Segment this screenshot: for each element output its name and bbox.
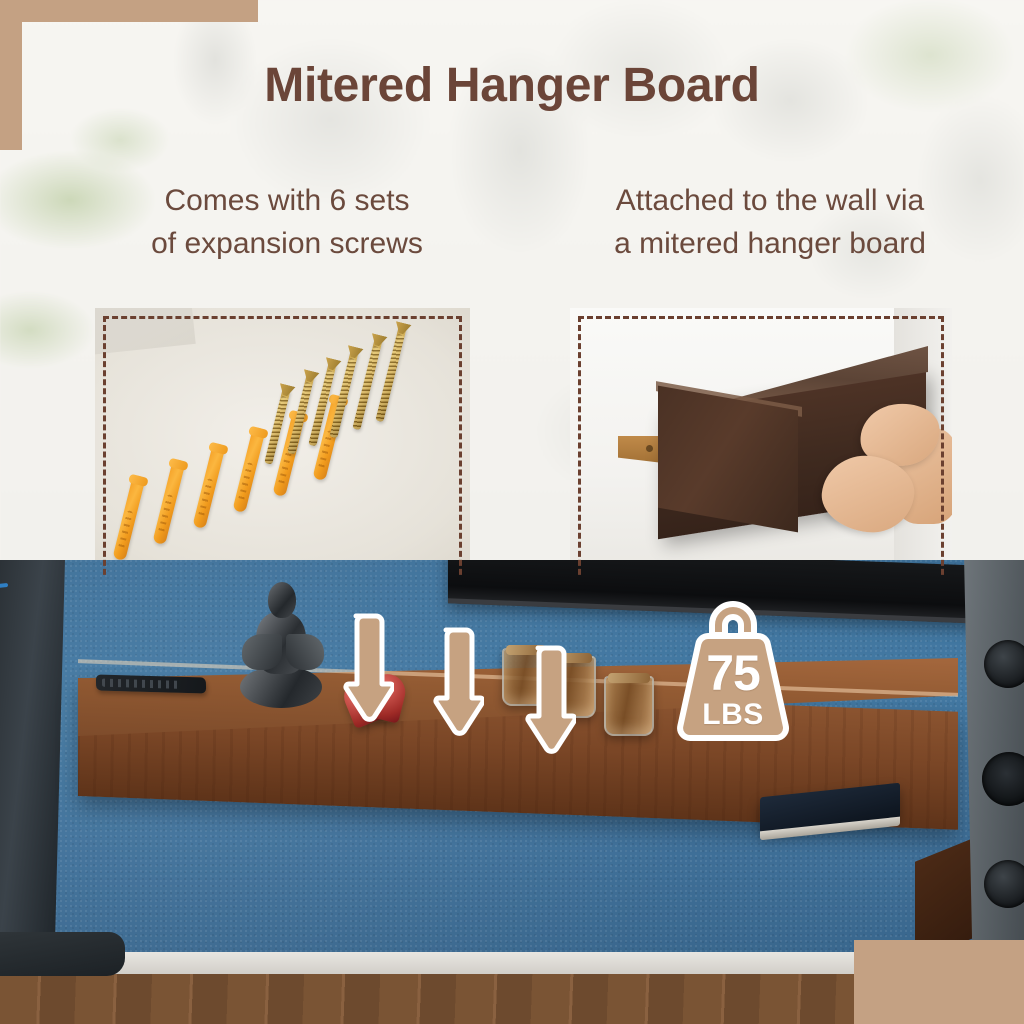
glass-candle-jar (604, 676, 654, 736)
remote-control (96, 674, 206, 693)
screws-photo-surface (95, 308, 470, 576)
speaker-driver (984, 860, 1024, 908)
down-arrow-icon (520, 644, 576, 764)
feature-caption-left-line1: Comes with 6 sets (92, 180, 482, 223)
weight-capacity-badge: 75 LBS (668, 596, 798, 748)
feature-caption-left: Comes with 6 sets of expansion screws (92, 180, 482, 265)
page-title: Mitered Hanger Board (0, 58, 1024, 113)
feature-photo-hanger-board (570, 308, 952, 576)
floor-speaker-left-base (0, 932, 125, 976)
infographic-canvas: Mitered Hanger Board Comes with 6 sets o… (0, 0, 1024, 1024)
floating-shelf-end-face (658, 386, 798, 533)
feature-caption-right-line1: Attached to the wall via (530, 180, 1010, 223)
weight-value: 75 (668, 648, 798, 698)
feature-caption-right-line2: a mitered hanger board (530, 223, 1010, 266)
down-arrow-icon (428, 626, 484, 746)
floor-speaker-left (0, 560, 65, 950)
feature-caption-left-line2: of expansion screws (92, 223, 482, 266)
down-arrow-icon (338, 612, 394, 732)
buddha-statue (236, 582, 324, 710)
feature-caption-right: Attached to the wall via a mitered hange… (530, 180, 1010, 265)
speaker-driver (984, 640, 1024, 688)
corner-decoration-top-left-horizontal (0, 0, 258, 22)
weight-unit: LBS (668, 700, 798, 730)
feature-photo-expansion-screws (95, 308, 470, 576)
corner-decoration-bottom-right (854, 940, 1024, 1024)
